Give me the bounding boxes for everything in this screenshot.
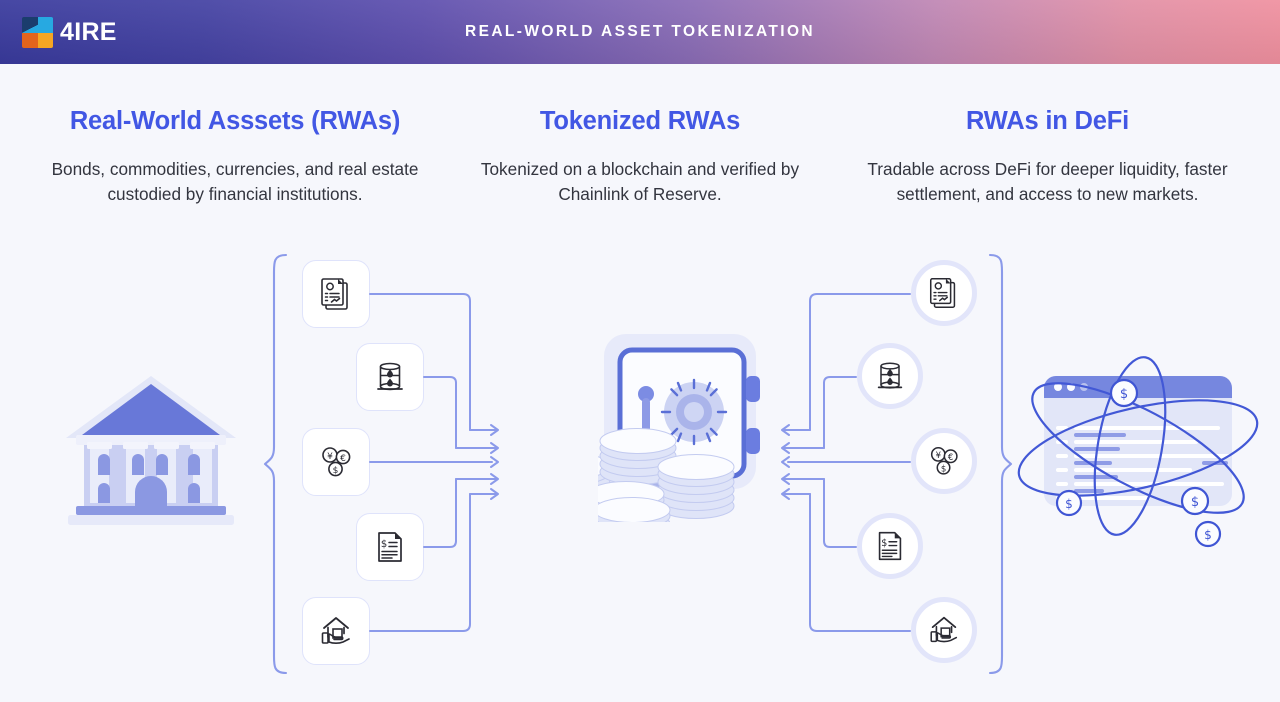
dollar-token: $ bbox=[1057, 491, 1081, 515]
invoice-document-icon: $ bbox=[872, 528, 908, 564]
svg-text:$: $ bbox=[941, 464, 946, 474]
defi-dashboard-window-icon: $ $ $ $ bbox=[1012, 348, 1270, 568]
house-in-hand-icon bbox=[926, 612, 962, 648]
token-circle-commodities[interactable] bbox=[857, 343, 923, 409]
dollar-token: $ bbox=[1111, 380, 1137, 406]
svg-text:$: $ bbox=[1120, 387, 1128, 402]
dollar-token: $ bbox=[1196, 522, 1220, 546]
token-circle-documents[interactable]: $ bbox=[857, 513, 923, 579]
right-grouping-brace bbox=[988, 252, 1014, 681]
dollar-token: $ bbox=[1182, 488, 1208, 514]
svg-text:$: $ bbox=[1191, 495, 1199, 510]
token-circle-bonds[interactable] bbox=[911, 260, 977, 326]
infographic-canvas: 4IRE REAL-WORLD ASSET TOKENIZATION Real-… bbox=[0, 0, 1280, 702]
svg-text:¥: ¥ bbox=[936, 451, 942, 461]
svg-text:€: € bbox=[948, 453, 953, 463]
bond-certificate-icon bbox=[926, 275, 962, 311]
svg-text:$: $ bbox=[1065, 497, 1073, 511]
oil-barrel-icon bbox=[872, 358, 908, 394]
token-circle-real-estate[interactable] bbox=[911, 597, 977, 663]
svg-text:$: $ bbox=[881, 538, 887, 549]
svg-text:$: $ bbox=[1204, 528, 1212, 542]
currency-coins-icon: ¥ € $ bbox=[926, 443, 962, 479]
token-circle-currencies[interactable]: ¥ € $ bbox=[911, 428, 977, 494]
